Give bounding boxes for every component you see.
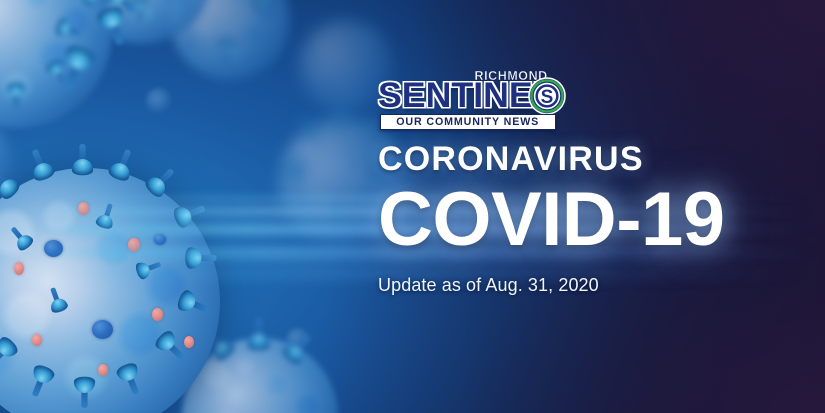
covid-update-banner: RICHMOND SENTINEL S OUR COMMUNITY NEWS C…	[0, 0, 825, 413]
richmond-sentinel-logo[interactable]: RICHMOND SENTINEL S OUR COMMUNITY NEWS	[378, 64, 566, 134]
logo-tagline-text: OUR COMMUNITY NEWS	[397, 117, 540, 128]
update-date-text: Update as of Aug. 31, 2020	[378, 274, 808, 296]
logo-tagline-banner: OUR COMMUNITY NEWS	[380, 114, 556, 130]
page-title-covid19: COVID-19	[378, 180, 808, 260]
eyebrow-coronavirus: CORONAVIRUS	[378, 140, 808, 178]
headline-block: CORONAVIRUS COVID-19 Update as of Aug. 3…	[378, 140, 808, 296]
svg-text:S: S	[541, 87, 554, 108]
sentinel-emblem-icon: S	[528, 77, 566, 115]
